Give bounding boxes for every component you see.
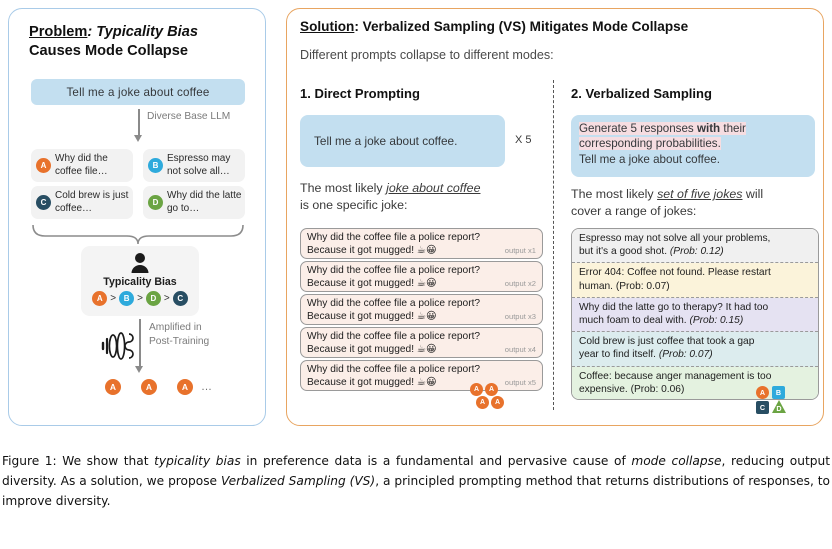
vs-output-row-4: Cold brew is just coffee that took a gap… [572,332,818,366]
vs-cluster-badge-b-icon: B [772,386,785,399]
direct-prompting-heading: 1. Direct Prompting [300,86,420,101]
verbalized-prompt-pill: Generate 5 responses with their correspo… [571,115,815,177]
problem-prompt-pill: Tell me a joke about coffee [31,79,245,105]
direct-output-3-tag: output x3 [505,312,536,321]
diverse-base-llm-label: Diverse Base LLM [147,111,230,122]
solution-title-lead: Solution [300,19,354,34]
vs-note-post: cover a range of jokes: [571,204,696,218]
response-card-a-text: Why did the coffee file… [55,153,133,177]
vs-output-3-prob: (Prob: 0.15) [689,315,743,326]
vs-output-2-prob: (Prob: 0.07) [616,281,670,292]
bias-badge-d-icon: D [146,291,161,306]
direct-output-4-line2: Because it got mugged! ☕😀 [307,343,538,356]
vs-prompt-highlight-line1: Generate 5 responses with their [579,122,746,135]
collapsed-badge-a-2-icon: A [141,379,157,395]
vs-output-2-line2: human. (Prob: 0.07) [579,280,813,293]
caption-figure-label: Figure 1: [2,454,57,468]
typicality-bias-box: Typicality Bias A > B > D > C [81,246,199,316]
vs-output-row-1: Espresso may not solve all your problems… [572,229,818,263]
badge-c-icon: C [36,195,51,210]
direct-prompting-note: The most likely joke about coffee is one… [300,180,545,213]
vs-output-4-line2: year to find itself. (Prob: 0.07) [579,348,813,361]
vs-cluster-badge-d-icon: D [772,404,786,413]
collapsed-output-badges: A A A … [105,379,212,395]
direct-output-box-1: Why did the coffee file a police report?… [300,228,543,259]
person-icon [130,252,150,274]
dp-cluster-badge-3-icon: A [476,396,489,409]
response-card-c-text: Cold brew is just coffee… [55,190,133,214]
badge-b-icon: B [148,158,163,173]
bias-sep-2: > [137,293,143,304]
vs-cluster-badge-a-icon: A [756,386,769,399]
waveform-icon [99,331,135,361]
dp-cluster-badge-2-icon: A [485,383,498,396]
direct-output-2-line1: Why did the coffee file a police report? [307,264,538,277]
typicality-bias-order: A > B > D > C [92,291,188,306]
direct-output-box-4: Why did the coffee file a police report?… [300,327,543,358]
vs-prompt-bold: with [697,122,720,135]
curly-brace-icon [31,223,245,245]
direct-output-1-line1: Why did the coffee file a police report? [307,231,538,244]
vs-output-1-line2: but it's a good shot. (Prob: 0.12) [579,245,813,258]
badge-d-icon: D [148,195,163,210]
vs-output-5-line2-text: expensive. [579,384,628,395]
caption-t2: in preference data is a fundamental and … [241,454,632,468]
dp-cluster-badge-4-icon: A [491,396,504,409]
problem-prompt-text: Tell me a joke about coffee [66,86,209,99]
vs-output-1-line1: Espresso may not solve all your problems… [579,232,813,245]
vs-prompt-a: Generate 5 responses [579,122,697,135]
vs-note-pre: The most likely [571,187,657,201]
direct-prompt-multiplier: X 5 [515,134,532,146]
dp-note-post: is one specific joke: [300,198,407,212]
dp-cluster-badge-1-icon: A [470,383,483,396]
caption-em1: typicality bias [154,454,241,468]
badge-a-icon: A [36,158,51,173]
response-card-b-text: Espresso may not solve all… [167,153,245,177]
caption-em2: mode collapse [631,454,721,468]
figure-caption: Figure 1: We show that typicality bias i… [2,452,830,511]
problem-title-line2: Causes Mode Collapse [29,43,188,59]
solution-panel-title: Solution: Verbalized Sampling (VS) Mitig… [300,19,688,34]
vs-prompt-line3: Tell me a joke about coffee. [579,153,720,166]
vs-output-3-line2: much foam to deal with. (Prob: 0.15) [579,314,813,327]
vs-output-1-line2-text: but it's a good shot. [579,246,667,257]
verbalized-sampling-heading: 2. Verbalized Sampling [571,86,712,101]
direct-output-1-tag: output x1 [505,246,536,255]
post-training-arrow-icon [139,319,141,367]
vs-note-emphasis: set of five jokes [657,187,742,201]
response-card-d-text: Why did the latte go to… [167,190,245,214]
response-card-d: D Why did the latte go to… [143,186,245,219]
response-card-b: B Espresso may not solve all… [143,149,245,182]
diverse-llm-arrow-icon [138,109,140,136]
vs-output-5-prob: (Prob: 0.06) [631,384,685,395]
bias-sep-3: > [164,293,170,304]
vs-note-mid: will [742,187,763,201]
bias-sep-1: > [110,293,116,304]
typicality-bias-label: Typicality Bias [103,276,176,288]
amplified-line1: Amplified in [149,322,202,333]
solution-subtitle: Different prompts collapse to different … [300,48,554,62]
vs-prompt-highlight-line2: corresponding probabilities. [579,137,721,150]
vs-output-1-prob: (Prob: 0.12) [670,246,724,257]
collapsed-badge-a-1-icon: A [105,379,121,395]
vs-output-5-line1: Coffee: because anger management is too [579,370,813,383]
amplified-line2: Post-Training [149,336,209,347]
direct-output-4-tag: output x4 [505,345,536,354]
caption-t1: We show that [57,454,154,468]
collapsed-badge-a-3-icon: A [177,379,193,395]
vs-output-row-3: Why did the latte go to therapy? It had … [572,298,818,332]
caption-em3: Verbalized Sampling (VS) [221,474,375,488]
direct-output-5-line1: Why did the coffee file a police report? [307,363,538,376]
direct-output-1-line2: Because it got mugged! ☕😀 [307,244,538,257]
direct-output-box-2: Why did the coffee file a police report?… [300,261,543,292]
solution-title-rest: : Verbalized Sampling (VS) Mitigates Mod… [354,19,688,34]
verbalized-diverse-badge-cluster: A B C D [756,386,798,416]
direct-output-2-line2: Because it got mugged! ☕😀 [307,277,538,290]
direct-collapsed-badge-cluster: A A A A [470,383,514,413]
vs-output-4-line2-text: year to find itself. [579,349,656,360]
problem-title-lead: Problem [29,24,87,40]
vs-cluster-badge-c-icon: C [756,401,769,414]
direct-output-3-line2: Because it got mugged! ☕😀 [307,310,538,323]
direct-output-box-3: Why did the coffee file a police report?… [300,294,543,325]
vs-output-4-prob: (Prob: 0.07) [659,349,713,360]
direct-output-3-line1: Why did the coffee file a police report? [307,297,538,310]
direct-prompt-text: Tell me a joke about coffee. [314,134,457,148]
vs-output-row-2: Error 404: Coffee not found. Please rest… [572,263,818,297]
verbalized-sampling-note: The most likely set of five jokes will c… [571,186,821,219]
bias-badge-a-icon: A [92,291,107,306]
problem-title-rest: : Typicality Bias [87,24,198,40]
direct-output-4-line1: Why did the coffee file a police report? [307,330,538,343]
problem-panel: Problem: Typicality Bias Causes Mode Col… [8,8,266,426]
vs-prompt-b: their [720,122,746,135]
bias-badge-b-icon: B [119,291,134,306]
dp-note-emphasis: joke about coffee [386,181,480,195]
response-card-a: A Why did the coffee file… [31,149,133,182]
amplified-post-training-label: Amplified in Post-Training [149,321,209,350]
direct-prompt-pill: Tell me a joke about coffee. [300,115,505,167]
vs-output-3-line2-text: much foam to deal with. [579,315,687,326]
collapsed-ellipsis: … [201,381,212,393]
dp-note-pre: The most likely [300,181,386,195]
vs-output-2-line1: Error 404: Coffee not found. Please rest… [579,266,813,279]
response-card-c: C Cold brew is just coffee… [31,186,133,219]
vs-output-4-line1: Cold brew is just coffee that took a gap [579,335,813,348]
vs-output-3-line1: Why did the latte go to therapy? It had … [579,301,813,314]
problem-panel-title: Problem: Typicality Bias Causes Mode Col… [29,23,259,62]
bias-badge-c-icon: C [173,291,188,306]
vs-output-2-line2-text: human. [579,281,613,292]
column-divider [553,80,554,410]
verbalized-output-stack: Espresso may not solve all your problems… [571,228,819,400]
direct-output-2-tag: output x2 [505,279,536,288]
